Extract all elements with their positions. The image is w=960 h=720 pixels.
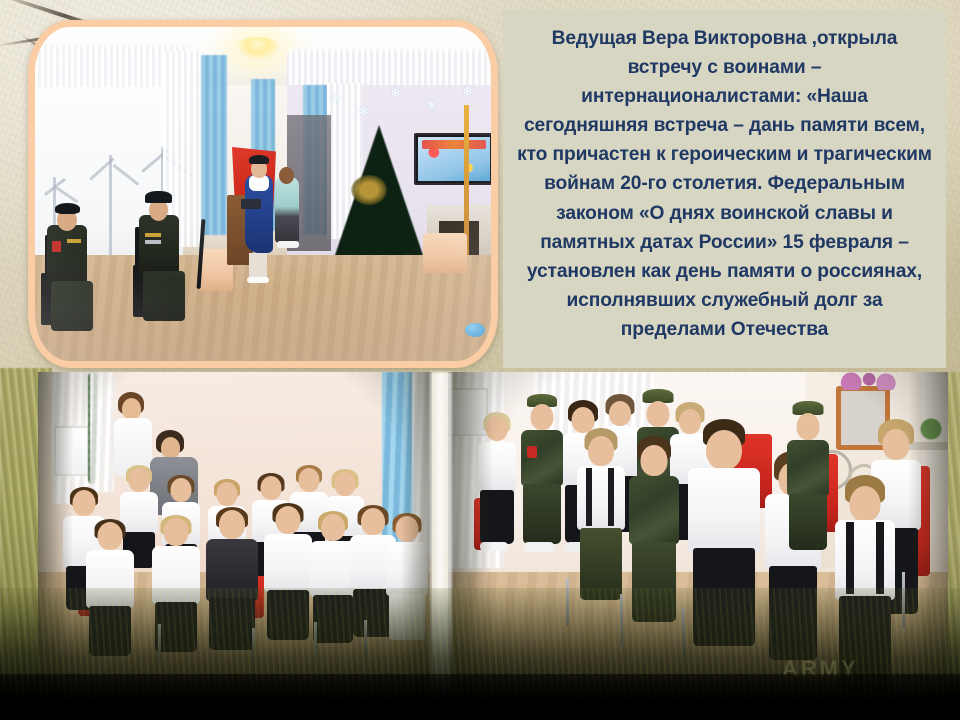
blue-ball-prop xyxy=(465,323,485,337)
child-legs xyxy=(313,595,353,643)
tv-screen-title xyxy=(422,140,486,149)
child-legs xyxy=(267,590,309,640)
child-legs xyxy=(693,548,755,646)
helper-body xyxy=(275,177,299,243)
veteran-body xyxy=(139,215,179,279)
child-shirt xyxy=(688,468,760,552)
child-in-uniform xyxy=(518,400,566,564)
chair-leg xyxy=(314,622,317,660)
child-uniform xyxy=(629,476,679,544)
bottom-black-band xyxy=(0,674,960,720)
child-legs xyxy=(632,542,676,622)
chair-leg xyxy=(158,624,161,662)
child-head xyxy=(276,506,301,534)
chair-leg xyxy=(620,594,623,646)
blue-curtain xyxy=(201,55,227,235)
child-head xyxy=(531,404,554,430)
veteran-beret-icon xyxy=(55,203,80,214)
order-ribbon-icon xyxy=(527,446,537,458)
tree-wreath-icon xyxy=(351,175,387,205)
child-uniform xyxy=(521,430,563,486)
photo-bottom-left-scene xyxy=(38,372,432,720)
child-suspenders-icon xyxy=(608,468,614,526)
teacher-head xyxy=(122,398,141,420)
child-head xyxy=(217,482,238,506)
child-in-uniform xyxy=(784,408,832,558)
photo-seam xyxy=(430,372,452,720)
snowflake-icon: ✻ xyxy=(359,107,368,118)
child-legs xyxy=(209,598,255,650)
child-head xyxy=(641,445,668,476)
child-head xyxy=(609,401,631,426)
child-suspenders-icon xyxy=(876,522,884,594)
side-table xyxy=(423,233,467,273)
child-head xyxy=(797,413,820,440)
child-head xyxy=(486,416,508,441)
child-head xyxy=(647,401,670,427)
decor-flowers-icon xyxy=(840,372,896,390)
veteran-medal-icon xyxy=(145,233,161,237)
child-shoes xyxy=(480,542,508,551)
child-head xyxy=(219,510,245,539)
child-shirt xyxy=(152,546,200,604)
sheer-curtain xyxy=(289,49,491,85)
veteran-medal-icon xyxy=(67,239,81,243)
presenter-legs xyxy=(249,253,267,279)
teacher-head xyxy=(161,437,180,459)
photo-bottom-right-scene xyxy=(448,372,948,720)
child-head xyxy=(171,478,192,502)
caption-text: Ведущая Вера Викторовна ,открыла встречу… xyxy=(517,24,932,344)
veteran-medal-icon xyxy=(52,241,61,252)
child-legs xyxy=(480,490,514,544)
child-shirt xyxy=(206,539,258,601)
presenter-hat-icon xyxy=(249,155,269,164)
presenter-notes xyxy=(241,199,261,209)
chair-leg xyxy=(682,608,685,662)
child-legs xyxy=(580,528,622,600)
child-shirt xyxy=(264,534,312,592)
child-legs xyxy=(523,484,561,544)
helper-head xyxy=(279,167,294,184)
snowflake-icon: ✻ xyxy=(331,93,340,104)
child xyxy=(626,440,682,636)
chair-leg xyxy=(252,628,255,664)
chair-leg xyxy=(364,620,367,658)
photo-bottom-right xyxy=(448,372,948,720)
child-suspenders-icon xyxy=(586,468,592,526)
child-head xyxy=(164,518,189,546)
child-head xyxy=(321,514,345,541)
child xyxy=(84,522,136,654)
snowflake-icon: ✻ xyxy=(391,89,400,100)
chair-leg xyxy=(566,578,569,626)
child-head xyxy=(361,508,385,535)
child xyxy=(384,516,430,640)
child-legs xyxy=(789,494,827,550)
child-head xyxy=(883,429,910,460)
child-legs xyxy=(155,602,197,652)
child-head xyxy=(73,490,96,516)
photo-top-left: ✻ ✻ ✻ ✻ ✻ xyxy=(28,20,498,368)
chair-leg xyxy=(902,572,905,628)
child-shirt xyxy=(577,466,625,530)
presenter-shoes xyxy=(247,277,269,283)
child xyxy=(476,416,518,562)
child xyxy=(262,506,314,638)
veteran-legs xyxy=(51,281,93,331)
photo-top-left-scene: ✻ ✻ ✻ ✻ ✻ xyxy=(35,27,491,361)
child-head xyxy=(396,516,419,542)
snowflake-icon: ✻ xyxy=(427,101,436,112)
child-head xyxy=(335,472,356,496)
child-head xyxy=(588,436,614,466)
child-legs xyxy=(769,566,817,660)
child-head xyxy=(129,468,150,492)
child-shirt xyxy=(478,442,516,492)
helper-shoes xyxy=(277,241,299,248)
wall-television xyxy=(414,133,491,185)
child-head xyxy=(261,476,282,500)
child-uniform xyxy=(787,440,829,496)
veteran-legs xyxy=(143,271,185,321)
child-shirt xyxy=(835,520,895,600)
child-head xyxy=(98,522,123,550)
veteran-medal-icon xyxy=(145,240,161,244)
presentation-slide: ✻ ✻ ✻ ✻ ✻ xyxy=(0,0,960,720)
child-shoes xyxy=(524,542,554,552)
child-shirt xyxy=(386,542,428,596)
sheer-curtain xyxy=(90,372,114,492)
child-shirt xyxy=(86,550,134,608)
child-suspenders-icon xyxy=(846,522,854,594)
veteran-peaked-cap-icon xyxy=(145,191,172,203)
child-head xyxy=(850,486,881,522)
child-legs xyxy=(89,606,131,656)
child-tights xyxy=(389,594,425,640)
photo-bottom-left xyxy=(38,372,432,720)
caption-text-panel: Ведущая Вера Викторовна ,открыла встречу… xyxy=(503,10,946,368)
child-head xyxy=(299,468,320,492)
child-head xyxy=(706,430,742,470)
child xyxy=(574,432,628,620)
ceiling-lamp-icon xyxy=(235,37,281,61)
child xyxy=(686,424,762,654)
snowflake-icon: ✻ xyxy=(463,87,472,98)
